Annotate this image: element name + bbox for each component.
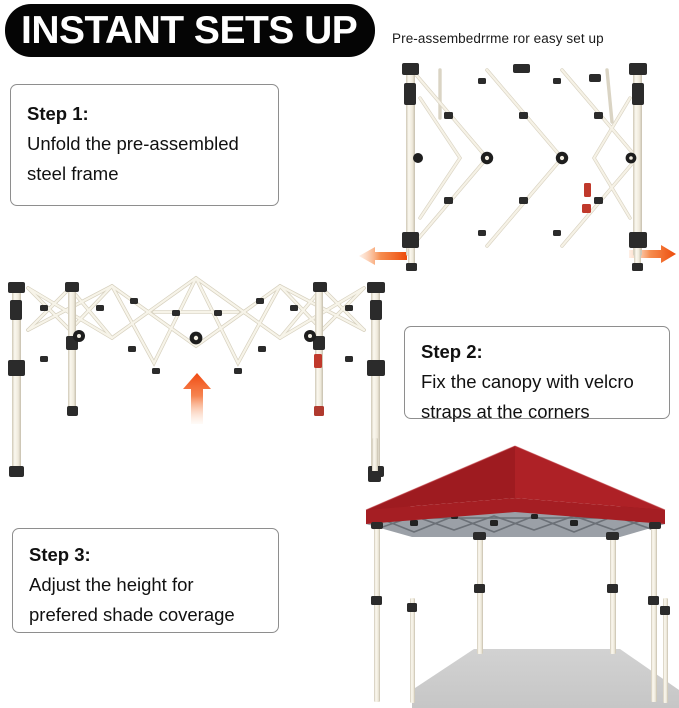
step-1-box: Step 1: Unfold the pre-assembled steel f… xyxy=(10,84,279,206)
step-2-box: Step 2: Fix the canopy with velcro strap… xyxy=(404,326,670,419)
step-3-box: Step 3: Adjust the height for prefered s… xyxy=(12,528,279,633)
step-3-heading: Step 3: xyxy=(29,540,262,570)
folded-steel-frame-illustration xyxy=(382,58,672,273)
step-2-line-2: Fix the canopy with velcro xyxy=(421,367,653,397)
step-1-line-3: steel frame xyxy=(27,159,262,189)
step-2-heading: Step 2: xyxy=(421,337,653,367)
step-3-line-3: prefered shade coverage xyxy=(29,600,262,630)
step-1-line-2: Unfold the pre-assembled xyxy=(27,129,262,159)
step-1-heading: Step 1: xyxy=(27,99,262,129)
assembled-canopy-illustration xyxy=(352,438,679,708)
step-3-line-2: Adjust the height for xyxy=(29,570,262,600)
infographic-page: INSTANT SETS UP Pre-assembedrrme ror eas… xyxy=(0,0,679,708)
page-title: INSTANT SETS UP xyxy=(21,11,357,50)
expanded-steel-frame-illustration xyxy=(0,268,398,483)
step-2-line-3: straps at the corners xyxy=(421,397,653,427)
frame-caption: Pre-assembedrrme ror easy set up xyxy=(392,31,604,46)
title-banner: INSTANT SETS UP xyxy=(5,4,375,57)
